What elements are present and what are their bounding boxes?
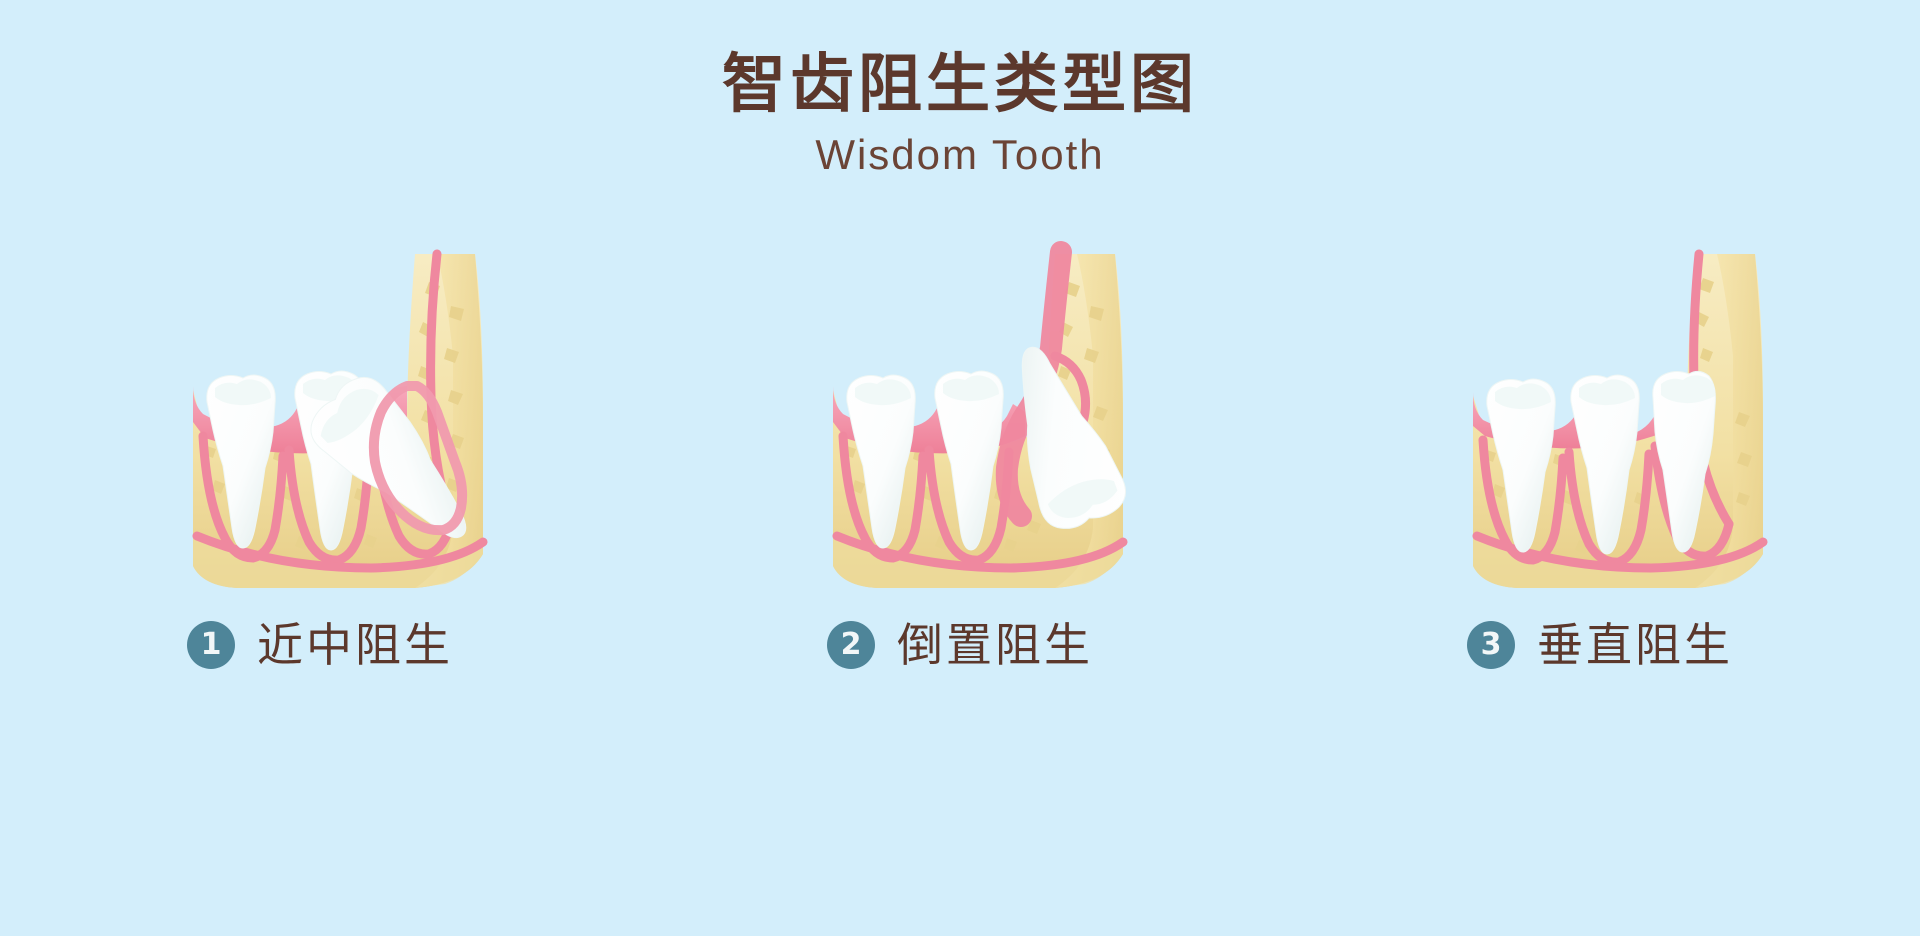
illustration-row: 1 近中阻生: [0, 236, 1920, 896]
panel-vertical-impaction: 3 垂直阻生: [1320, 236, 1880, 669]
inverted-impaction-illustration: [725, 236, 1195, 591]
step-badge: 2: [827, 621, 875, 669]
panel-label: 倒置阻生: [897, 622, 1093, 668]
step-badge: 1: [187, 621, 235, 669]
mesial-impaction-illustration: [85, 236, 555, 591]
panel-caption: 3 垂直阻生: [1467, 621, 1733, 669]
panel-caption: 1 近中阻生: [187, 621, 453, 669]
page-subtitle: Wisdom Tooth: [0, 132, 1920, 178]
poster-root: 智齿阻生类型图 Wisdom Tooth: [0, 0, 1920, 936]
panel-caption: 2 倒置阻生: [827, 621, 1093, 669]
vertical-impaction-illustration: [1365, 236, 1835, 591]
poster-header: 智齿阻生类型图 Wisdom Tooth: [0, 48, 1920, 178]
panel-label: 近中阻生: [257, 622, 453, 668]
panel-inverted-impaction: 2 倒置阻生: [680, 236, 1240, 669]
step-badge: 3: [1467, 621, 1515, 669]
page-title: 智齿阻生类型图: [0, 48, 1920, 122]
panel-mesial-impaction: 1 近中阻生: [40, 236, 600, 669]
panel-label: 垂直阻生: [1537, 622, 1733, 668]
